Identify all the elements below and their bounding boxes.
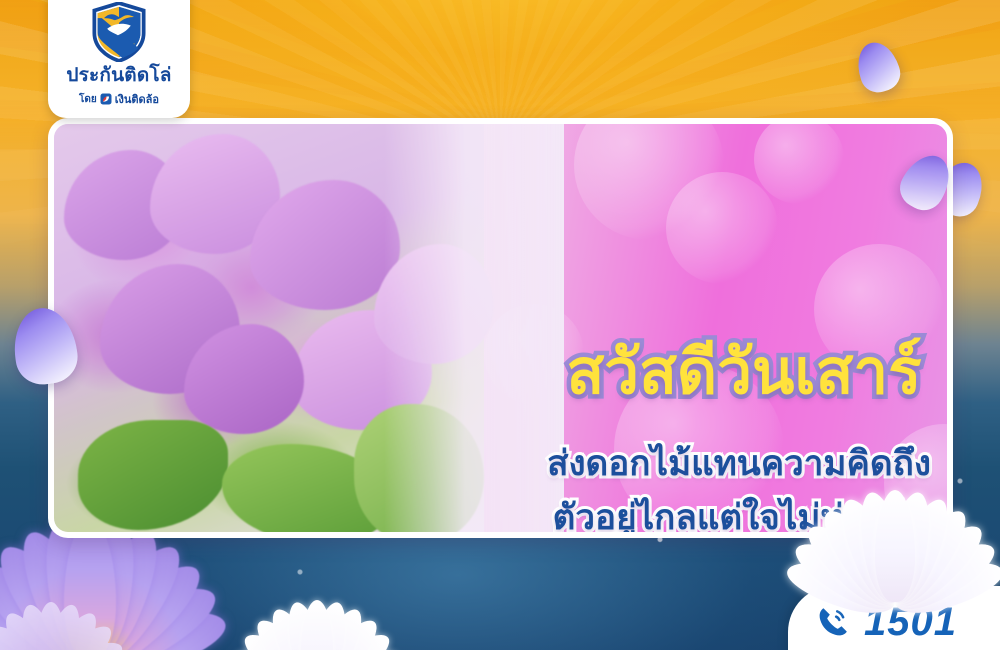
brand-partner-line: โดย เงินติดล้อ: [79, 90, 159, 108]
bellflower-photo: [54, 124, 484, 532]
brand-name: ประกันติดโล่: [66, 66, 171, 85]
brand-by-label: โดย: [79, 92, 97, 107]
brand-logo-card[interactable]: ประกันติดโล่ โดย เงินติดล้อ: [48, 0, 190, 118]
shield-swirl-icon: [92, 2, 146, 62]
photo-leaf: [78, 420, 228, 530]
pale-lotus-flower: [0, 560, 126, 650]
bokeh-circle: [754, 118, 844, 204]
page-title: สวัสดีวันเสาร์: [509, 342, 953, 404]
brand-partner-name: เงินติดล้อ: [115, 90, 159, 108]
phone-ringing-icon: [816, 605, 850, 639]
subtitle-line-1: ส่งดอกไม้แทนความคิดถึง: [494, 446, 953, 483]
white-lotus-flower-small: [232, 546, 402, 650]
hexagon-swirl-icon: [100, 93, 112, 105]
greeting-card-panel: สวัสดีวันเสาร์ ส่งดอกไม้แทนความคิดถึง ตั…: [48, 118, 953, 538]
bokeh-circle: [666, 172, 778, 284]
lotus-petal: [36, 602, 66, 650]
greeting-card-graphic: สวัสดีวันเสาร์ ส่งดอกไม้แทนความคิดถึง ตั…: [0, 0, 1000, 650]
